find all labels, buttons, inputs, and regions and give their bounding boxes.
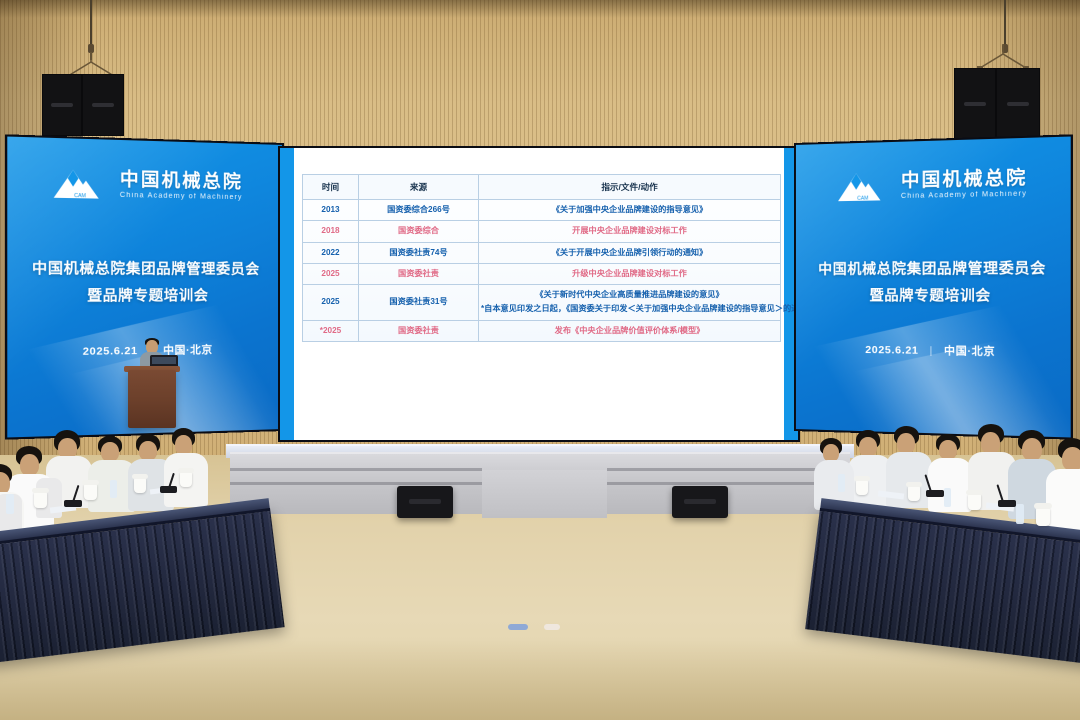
cell-time: *2025: [303, 320, 359, 341]
tea-cup: [856, 480, 868, 495]
floor-item-blue: [508, 624, 528, 630]
cell-action-title: 《关于新时代中央企业高质量推进品牌建设的意见》: [481, 289, 778, 301]
brand-name-en: China Academy of Machinery: [901, 190, 1028, 200]
right-conference-table: [820, 412, 1080, 720]
left-conference-table: [0, 420, 250, 720]
conference-hall-scene: CAM 中国机械总院 China Academy of Machinery 中国…: [0, 0, 1080, 720]
ceiling-speaker-cluster-right: [952, 0, 1062, 150]
tea-cup-lid: [966, 490, 983, 495]
brand-name-cn: 中国机械总院: [901, 168, 1028, 190]
slide-location: 中国·北京: [944, 345, 995, 358]
tea-cup-lid: [854, 476, 870, 481]
floor-monitor-speaker: [397, 486, 453, 518]
slide-meta-right: 2025.6.21 | 中国·北京: [796, 341, 1071, 360]
cell-action-note: *自本意见印发之日起，《国资委关于印发＜关于加强中央企业品牌建设的指导意见＞的通…: [481, 304, 800, 313]
brand-logo-right: CAM 中国机械总院 China Academy of Machinery: [835, 165, 1027, 204]
table-row: 2025 国资委社责31号 《关于新时代中央企业高质量推进品牌建设的意见》 *自…: [303, 285, 781, 321]
cell-action: 升级中央企业品牌建设对标工作: [479, 263, 781, 284]
tea-cup: [968, 494, 981, 510]
slide-date: 2025.6.21: [83, 345, 138, 358]
col-header-time: 时间: [303, 175, 359, 200]
speaker-rigging-yoke-icon: [972, 44, 1034, 70]
slide-title-left: 中国机械总院集团品牌管理委员会 暨品牌专题培训会: [7, 255, 282, 310]
mountain-logo-icon: CAM: [835, 169, 892, 205]
tea-cup: [180, 472, 192, 487]
led-panel-center: 时间 来源 指示/文件/动作 2013 国资委综合266号 《关于加强中央企业品…: [278, 146, 800, 442]
cell-action: 开展中央企业品牌建设对标工作: [479, 221, 781, 242]
tea-cup-lid: [82, 480, 99, 485]
table-row: 2018 国资委综合 开展中央企业品牌建设对标工作: [303, 221, 781, 242]
led-panel-right: CAM 中国机械总院 China Academy of Machinery 中国…: [794, 134, 1073, 439]
tea-cup-lid: [178, 468, 194, 473]
cell-time: 2025: [303, 285, 359, 321]
table-row: 2013 国资委综合266号 《关于加强中央企业品牌建设的指导意见》: [303, 200, 781, 221]
speaker-box: [996, 68, 1040, 142]
table-row: 2025 国资委社责 升级中央企业品牌建设对标工作: [303, 263, 781, 284]
slide-date: 2025.6.21: [865, 344, 918, 357]
cell-action: 《关于新时代中央企业高质量推进品牌建设的意见》 *自本意见印发之日起，《国资委关…: [479, 285, 781, 321]
table-row: *2025 国资委社责 发布《中央企业品牌价值评价体系/模型》: [303, 320, 781, 341]
col-header-source: 来源: [359, 175, 479, 200]
tea-cup: [34, 492, 47, 508]
cell-time: 2022: [303, 242, 359, 263]
water-bottle: [944, 488, 951, 507]
cell-source: 国资委社责74号: [359, 242, 479, 263]
col-header-action: 指示/文件/动作: [479, 175, 781, 200]
cell-time: 2025: [303, 263, 359, 284]
brand-name-en: China Academy of Machinery: [120, 192, 243, 202]
ceiling-speaker-cluster-left: [36, 0, 146, 150]
cell-action: 发布《中央企业品牌价值评价体系/模型》: [479, 320, 781, 341]
svg-text:CAM: CAM: [857, 196, 868, 202]
brand-name-cn: 中国机械总院: [120, 170, 243, 192]
svg-text:CAM: CAM: [74, 193, 86, 199]
tea-cup: [908, 486, 920, 501]
slide-separator: |: [930, 345, 933, 357]
tea-cup: [84, 484, 97, 500]
cell-action: 《关于开展中央企业品牌引领行动的通知》: [479, 242, 781, 263]
tea-cup-lid: [906, 482, 922, 487]
ceiling-shadow-band: [0, 0, 1080, 18]
attendee: [1046, 438, 1080, 522]
cell-source: 国资委综合: [359, 221, 479, 242]
cell-source: 国资委综合266号: [359, 200, 479, 221]
speaker-box: [82, 74, 124, 136]
slide-center-table: 时间 来源 指示/文件/动作 2013 国资委综合266号 《关于加强中央企业品…: [280, 148, 798, 440]
cell-source: 国资委社责: [359, 263, 479, 284]
water-bottle: [6, 494, 14, 514]
slide-right: CAM 中国机械总院 China Academy of Machinery 中国…: [796, 137, 1071, 438]
cell-time: 2018: [303, 221, 359, 242]
cell-action: 《关于加强中央企业品牌建设的指导意见》: [479, 200, 781, 221]
desk-microphone-base: [998, 500, 1016, 507]
floor-item-white: [544, 624, 560, 630]
table-header-row: 时间 来源 指示/文件/动作: [303, 175, 781, 200]
mountain-logo-icon: CAM: [50, 165, 110, 202]
speaker-box: [42, 74, 82, 136]
policy-timeline-table: 时间 来源 指示/文件/动作 2013 国资委综合266号 《关于加强中央企业品…: [302, 174, 781, 342]
attendee: [814, 438, 854, 504]
floor-monitor-speaker: [672, 486, 728, 518]
cell-source: 国资委社责31号: [359, 285, 479, 321]
water-bottle: [110, 480, 117, 498]
tea-cup: [134, 478, 146, 493]
desk-microphone-base: [926, 490, 944, 497]
brand-logo-left: CAM 中国机械总院 China Academy of Machinery: [50, 165, 242, 204]
tea-cup: [1036, 508, 1050, 526]
slide-title-right: 中国机械总院集团品牌管理委员会 暨品牌专题培训会: [796, 255, 1071, 310]
slide-edge-left: [280, 148, 294, 440]
speaker-box: [954, 68, 996, 142]
cell-time: 2013: [303, 200, 359, 221]
water-bottle: [838, 474, 845, 492]
stage-access-ramp: [482, 470, 607, 518]
water-bottle: [1016, 504, 1024, 524]
tea-cup-lid: [132, 474, 148, 479]
table-row: 2022 国资委社责74号 《关于开展中央企业品牌引领行动的通知》: [303, 242, 781, 263]
cell-source: 国资委社责: [359, 320, 479, 341]
tea-cup-lid: [1034, 503, 1052, 509]
tea-cup-lid: [32, 488, 49, 493]
